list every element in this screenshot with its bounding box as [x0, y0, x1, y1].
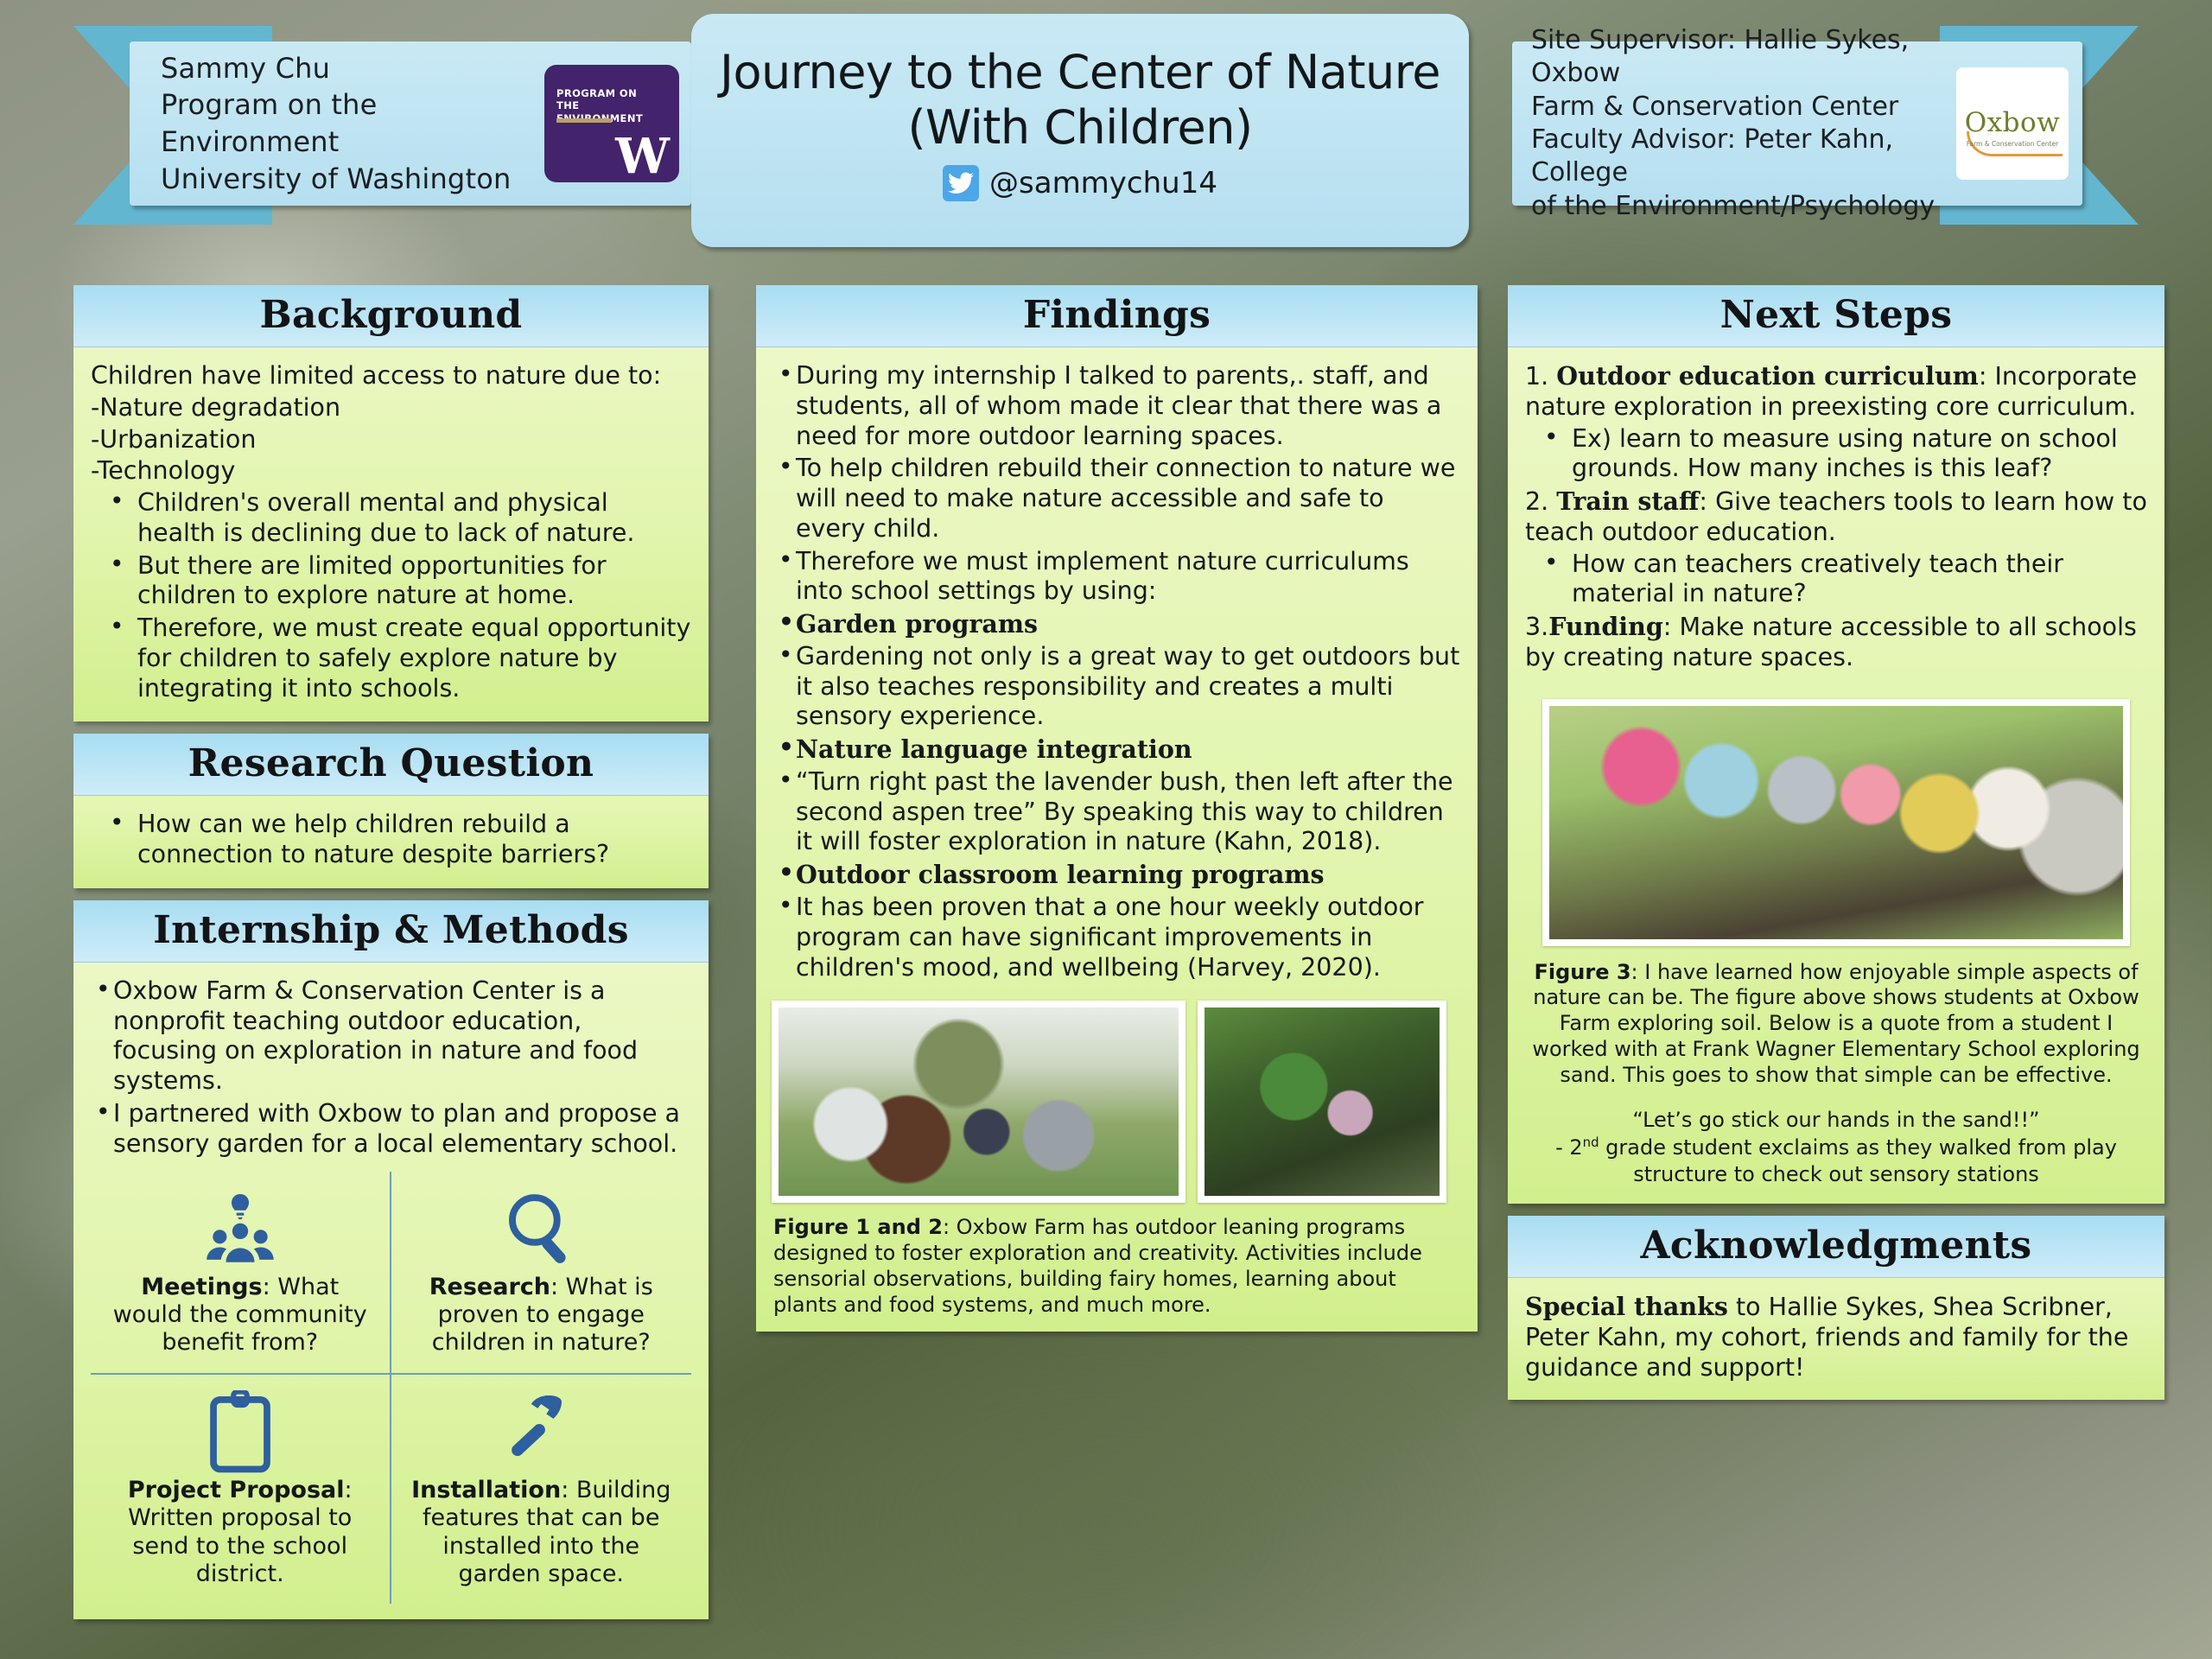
findings-detail-list: It has been proven that a one hour weekl…: [773, 893, 1460, 982]
uw-program-on-environment-logo: PROGRAM ON THE ENVIRONMENT W: [544, 65, 679, 182]
middle-column: Findings During my internship I talked t…: [756, 285, 1478, 1344]
header-title-box: Journey to the Center of Nature (With Ch…: [691, 14, 1469, 247]
figure-3-photo: [1549, 706, 2123, 939]
method-cell-installation: Installation: Building features that can…: [391, 1375, 692, 1605]
findings-bullet: During my internship I talked to parents…: [773, 361, 1460, 451]
figure-3-label: Figure 3: [1534, 960, 1630, 984]
figure-3-frame: [1542, 699, 2130, 946]
findings-detail-list: Gardening not only is a great way to get…: [773, 642, 1460, 732]
background-heading: Background: [73, 285, 709, 347]
next-step-sub-list-1: Ex) learn to measure using nature on sch…: [1525, 424, 2147, 485]
internship-bullet: I partnered with Oxbow to plan and propo…: [91, 1099, 691, 1160]
background-dash-1: -Nature degradation: [91, 393, 691, 423]
right-column: Next Steps 1. Outdoor education curricul…: [1508, 285, 2164, 1412]
findings-subitem-detail: “Turn right past the lavender bush, then…: [773, 767, 1460, 857]
findings-subitem-list: Garden programs: [773, 609, 1460, 639]
background-bullet: But there are limited opportunities for …: [91, 551, 691, 612]
poster-title: Journey to the Center of Nature (With Ch…: [691, 45, 1469, 155]
research-question-heading: Research Question: [73, 734, 709, 796]
findings-bullet-list: During my internship I talked to parents…: [773, 361, 1460, 607]
next-step-sub-list-2: How can teachers creatively teach their …: [1525, 550, 2147, 610]
findings-subitem-title: Outdoor classroom learning programs: [773, 860, 1460, 890]
internship-bullet: Oxbow Farm & Conservation Center is a no…: [91, 976, 691, 1096]
findings-subitem-title: Nature language integration: [773, 734, 1460, 765]
findings-subitem-detail: It has been proven that a one hour weekl…: [773, 893, 1460, 982]
next-step-item-1: 1. Outdoor education curriculum: Incorpo…: [1525, 361, 2147, 423]
figure-2-photo: [1205, 1007, 1440, 1196]
findings-bullet: To help children rebuild their connectio…: [773, 454, 1460, 543]
findings-detail-list: “Turn right past the lavender bush, then…: [773, 767, 1460, 857]
next-steps-body: 1. Outdoor education curriculum: Incorpo…: [1508, 347, 2164, 690]
internship-bullet-list: Oxbow Farm & Conservation Center is a no…: [91, 976, 691, 1160]
next-step-number-3: 3.: [1525, 613, 1548, 641]
next-step-number-1: 1.: [1525, 362, 1548, 391]
findings-bullet: Therefore we must implement nature curri…: [773, 547, 1460, 607]
next-steps-panel: Next Steps 1. Outdoor education curricul…: [1508, 285, 2164, 1204]
next-step-title-1: Outdoor education curriculum: [1556, 361, 1979, 391]
findings-figure-label: Figure 1 and 2: [773, 1215, 943, 1239]
method-cell-meetings: Meetings: What would the community benef…: [91, 1172, 391, 1375]
figure-3-row: [1508, 690, 2164, 951]
clipboard-icon: [103, 1387, 378, 1477]
student-quote-block: “Let’s go stick our hands in the sand!!”…: [1508, 1102, 2164, 1204]
figure-3-caption: Figure 3: I have learned how enjoyable s…: [1508, 951, 2164, 1103]
method-cell-project-proposal: Project Proposal: Written proposal to se…: [91, 1375, 391, 1605]
student-quote: “Let’s go stick our hands in the sand!!”: [1525, 1107, 2147, 1134]
author-university: University of Washington: [161, 161, 536, 198]
oxbow-farm-logo: Oxbow Farm & Conservation Center: [1956, 67, 2069, 180]
twitter-handle-row[interactable]: @sammychu14: [691, 165, 1469, 201]
acknowledgments-heading: Acknowledgments: [1508, 1216, 2164, 1278]
author-name: Sammy Chu: [161, 50, 536, 87]
twitter-icon: [943, 165, 979, 201]
header-advisors-box: Site Supervisor: Hallie Sykes, Oxbow Far…: [1512, 41, 2082, 206]
next-step-item-2: 2. Train staff: Give teachers tools to l…: [1525, 486, 2147, 548]
twitter-handle-text[interactable]: @sammychu14: [989, 166, 1217, 200]
uw-w-mark: W: [615, 132, 670, 181]
next-step-title-3: Funding: [1548, 612, 1663, 641]
advisor-line-1: Site Supervisor: Hallie Sykes, Oxbow: [1531, 24, 1949, 91]
figure-1-frame: [772, 1001, 1185, 1203]
background-body: Children have limited access to nature d…: [73, 347, 709, 721]
method-title-meetings: Meetings: [141, 1274, 262, 1300]
author-affiliation-block: Sammy Chu Program on the Environment Uni…: [161, 50, 536, 197]
hammer-icon: [404, 1387, 680, 1477]
method-title-project-proposal: Project Proposal: [128, 1477, 345, 1503]
advisor-line-4: of the Environment/Psychology: [1531, 190, 1949, 223]
student-quote-attribution: - 2nd grade student exclaims as they wal…: [1525, 1135, 2147, 1188]
findings-panel: Findings During my internship I talked t…: [756, 285, 1478, 1332]
next-step-item-3: 3.Funding: Make nature accessible to all…: [1525, 612, 2147, 673]
oxbow-logo-tagline: Farm & Conservation Center: [1967, 140, 2058, 148]
acknowledgments-text: Special thanks to Hallie Sykes, Shea Scr…: [1525, 1292, 2147, 1382]
poster-canvas: Sammy Chu Program on the Environment Uni…: [0, 0, 2212, 1659]
research-question-panel: Research Question How can we help childr…: [73, 734, 709, 888]
advisor-line-2: Farm & Conservation Center: [1531, 91, 1949, 124]
research-question-bullet: How can we help children rebuild a conne…: [91, 810, 691, 870]
method-title-installation: Installation: [411, 1477, 561, 1503]
author-program-2: Environment: [161, 124, 536, 161]
internship-methods-body: Oxbow Farm & Conservation Center is a no…: [73, 963, 709, 1619]
research-question-list: How can we help children rebuild a conne…: [91, 810, 691, 870]
next-step-title-2: Train staff: [1556, 486, 1699, 516]
uw-logo-line1: PROGRAM ON THE: [556, 87, 660, 112]
background-dash-2: -Urbanization: [91, 425, 691, 455]
background-bullet: Children's overall mental and physical h…: [91, 488, 691, 549]
method-title-research: Research: [429, 1274, 550, 1300]
next-step-sub-1: Ex) learn to measure using nature on sch…: [1525, 424, 2147, 485]
quote-attrib-sup: nd: [1583, 1135, 1599, 1150]
uw-logo-gold-rule: [556, 118, 612, 123]
quote-attrib-pre: - 2: [1555, 1135, 1583, 1160]
background-panel: Background Children have limited access …: [73, 285, 709, 721]
figure-1-photo: [779, 1007, 1179, 1196]
advisor-block: Site Supervisor: Hallie Sykes, Oxbow Far…: [1531, 24, 1949, 223]
poster-title-line2: (With Children): [691, 100, 1469, 156]
acknowledgments-body: Special thanks to Hallie Sykes, Shea Scr…: [1508, 1278, 2164, 1400]
advisor-line-3: Faculty Advisor: Peter Kahn, College: [1531, 124, 1949, 190]
oxbow-logo-wordmark: Oxbow: [1965, 107, 2060, 138]
background-intro: Children have limited access to nature d…: [91, 361, 691, 391]
internship-methods-heading: Internship & Methods: [73, 900, 709, 963]
findings-figure-row: [756, 1001, 1478, 1206]
internship-methods-panel: Internship & Methods Oxbow Farm & Conser…: [73, 900, 709, 1619]
quote-attrib-post: grade student exclaims as they walked fr…: [1599, 1135, 2117, 1186]
research-question-body: How can we help children rebuild a conne…: [73, 796, 709, 888]
methods-icon-grid: Meetings: What would the community benef…: [91, 1172, 691, 1605]
magnifier-icon: [404, 1184, 680, 1274]
acknowledgments-panel: Acknowledgments Special thanks to Hallie…: [1508, 1216, 2164, 1400]
background-bullet-list: Children's overall mental and physical h…: [91, 488, 691, 703]
author-program-1: Program on the: [161, 86, 536, 124]
acknowledgments-lead: Special thanks: [1525, 1292, 1728, 1321]
findings-heading: Findings: [756, 285, 1478, 347]
next-step-number-2: 2.: [1525, 487, 1548, 516]
findings-subitem-title: Garden programs: [773, 609, 1460, 639]
next-steps-heading: Next Steps: [1508, 285, 2164, 347]
findings-subitem-list: Outdoor classroom learning programs: [773, 860, 1460, 890]
people-idea-icon: [103, 1184, 378, 1274]
header-author-box: Sammy Chu Program on the Environment Uni…: [130, 41, 691, 206]
background-dash-3: -Technology: [91, 456, 691, 486]
findings-figure-caption: Figure 1 and 2: Oxbow Farm has outdoor l…: [756, 1206, 1478, 1332]
method-cell-research: Research: What is proven to engage child…: [391, 1172, 692, 1375]
poster-title-line1: Journey to the Center of Nature: [691, 45, 1469, 100]
findings-subitem-list: Nature language integration: [773, 734, 1460, 765]
figure-2-frame: [1198, 1001, 1446, 1203]
left-column: Background Children have limited access …: [73, 285, 709, 1631]
findings-body: During my internship I talked to parents…: [756, 347, 1478, 1001]
background-bullet: Therefore, we must create equal opportun…: [91, 613, 691, 703]
findings-subitem-detail: Gardening not only is a great way to get…: [773, 642, 1460, 732]
next-step-sub-2: How can teachers creatively teach their …: [1525, 550, 2147, 610]
